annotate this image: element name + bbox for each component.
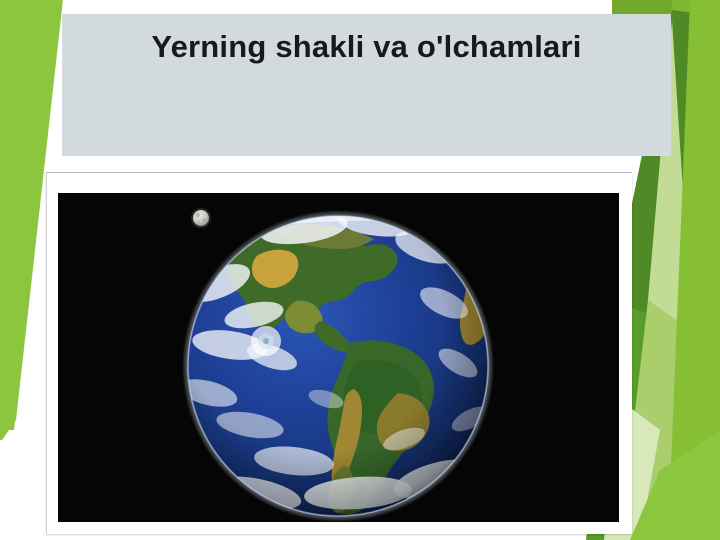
top-right-dark-wedge [676, 0, 720, 16]
earth-photo-graphic [58, 193, 619, 522]
left-green-wedge-lower [0, 418, 16, 440]
moon [191, 208, 211, 228]
moon-disc [193, 210, 209, 226]
bottom-right-wedge [630, 430, 720, 540]
slide-canvas: Yerning shakli va o'lchamlari [0, 0, 720, 540]
picture-placeholder[interactable] [46, 172, 632, 534]
title-placeholder: Yerning shakli va o'lchamlari [62, 14, 671, 156]
right-pale-facet-bottom [620, 300, 700, 540]
page-title: Yerning shakli va o'lchamlari [62, 14, 671, 68]
earth-from-space-photo[interactable] [58, 193, 619, 522]
right-bright-overlay [668, 0, 720, 540]
top-right-light-strip [612, 0, 700, 14]
